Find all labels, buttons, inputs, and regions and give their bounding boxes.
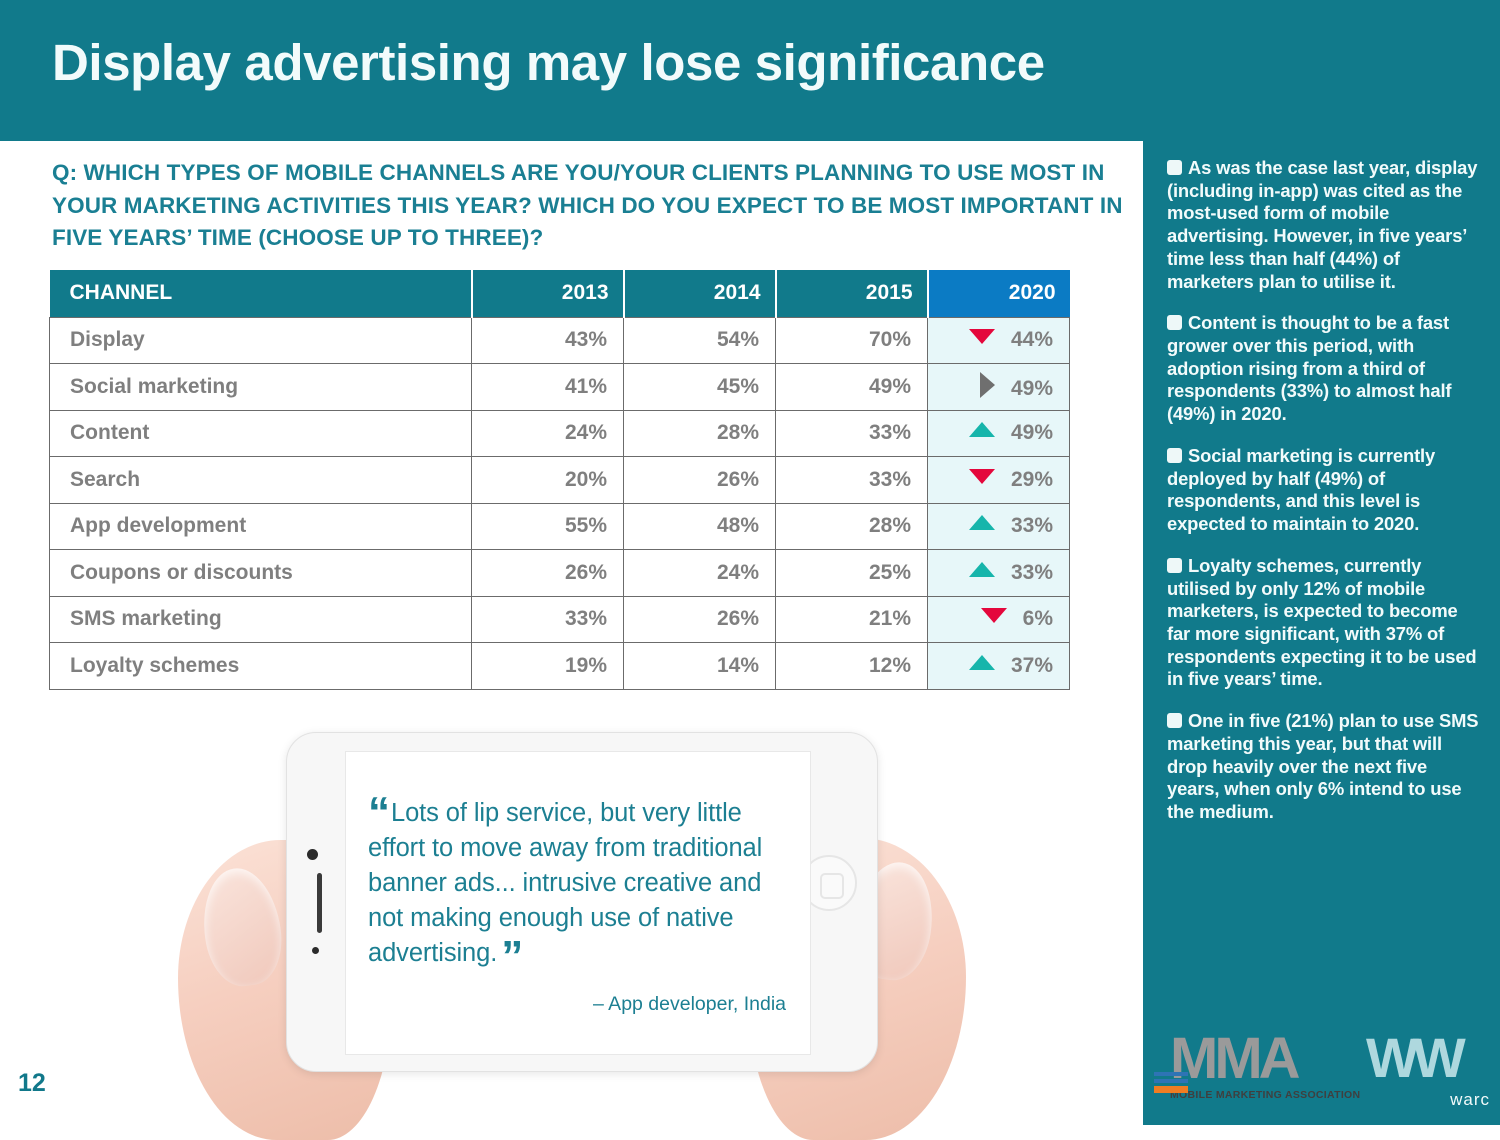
cell-value-2015: 25% — [776, 550, 928, 597]
trend-down-icon — [969, 469, 995, 484]
cell-value-2013: 43% — [472, 317, 624, 364]
insight-item: Loyalty schemes, currently utilised by o… — [1167, 555, 1482, 691]
cell-value-2015: 28% — [776, 503, 928, 550]
bullet-square-icon — [1167, 558, 1182, 573]
logo-area: MMA MOBILE MARKETING ASSOCIATION WW warc — [1170, 1028, 1490, 1120]
cell-value-2020: 6% — [928, 596, 1070, 643]
cell-value-2014: 45% — [624, 364, 776, 411]
cell-value-2014: 28% — [624, 410, 776, 457]
cell-value-2020: 29% — [928, 457, 1070, 504]
insight-text: Content is thought to be a fast grower o… — [1167, 312, 1451, 424]
cell-value-2013: 55% — [472, 503, 624, 550]
cell-value-2013: 24% — [472, 410, 624, 457]
cell-value-2015: 21% — [776, 596, 928, 643]
insight-text: Social marketing is currently deployed b… — [1167, 445, 1435, 534]
phone-screen: “Lots of lip service, but very little ef… — [345, 751, 811, 1055]
trend-up-icon — [969, 422, 995, 437]
insight-item: As was the case last year, display (incl… — [1167, 157, 1482, 293]
bullet-square-icon — [1167, 713, 1182, 728]
mma-bar-orange — [1154, 1086, 1188, 1093]
quote-attribution: – App developer, India — [368, 993, 786, 1016]
cell-value-2015: 33% — [776, 457, 928, 504]
cell-value-2014: 48% — [624, 503, 776, 550]
cell-value-2014: 26% — [624, 596, 776, 643]
table-header-row: CHANNEL 2013 2014 2015 2020 — [50, 270, 1070, 317]
header-band: Display advertising may lose significanc… — [0, 0, 1500, 141]
table-row: Social marketing41%45%49%49% — [50, 364, 1070, 411]
mma-subtitle: MOBILE MARKETING ASSOCIATION — [1170, 1089, 1360, 1101]
table-body: Display43%54%70%44%Social marketing41%45… — [50, 317, 1070, 689]
trend-down-icon — [981, 608, 1007, 623]
insight-text: As was the case last year, display (incl… — [1167, 157, 1477, 292]
cell-value-2015: 49% — [776, 364, 928, 411]
cell-channel-name: SMS marketing — [50, 596, 472, 643]
trend-up-icon — [969, 562, 995, 577]
cell-value-2020: 44% — [928, 317, 1070, 364]
page-title: Display advertising may lose significanc… — [52, 33, 1045, 92]
cell-value-2014: 26% — [624, 457, 776, 504]
trend-up-icon — [969, 655, 995, 670]
cell-value-2020: 33% — [928, 503, 1070, 550]
trend-up-icon — [969, 515, 995, 530]
table-header: CHANNEL 2013 2014 2015 2020 — [50, 270, 1070, 317]
mma-bar-blue-1 — [1154, 1072, 1188, 1076]
warc-logo: WW warc — [1366, 1030, 1490, 1110]
cell-channel-name: Content — [50, 410, 472, 457]
proximity-sensor-icon — [312, 947, 319, 954]
column-header-2014: 2014 — [624, 270, 776, 317]
quote-text: “Lots of lip service, but very little ef… — [368, 796, 786, 971]
quote-open-icon: “ — [368, 788, 388, 837]
table-row: Content24%28%33%49% — [50, 410, 1070, 457]
column-header-2015: 2015 — [776, 270, 928, 317]
channels-table: CHANNEL 2013 2014 2015 2020 Display43%54… — [49, 270, 1070, 690]
table-row: Loyalty schemes19%14%12%37% — [50, 643, 1070, 690]
cell-value-2020: 33% — [928, 550, 1070, 597]
phone-illustration: “Lots of lip service, but very little ef… — [200, 712, 960, 1125]
cell-value-2020: 49% — [928, 364, 1070, 411]
survey-question: Q: WHICH TYPES OF MOBILE CHANNELS ARE YO… — [52, 157, 1127, 255]
trend-down-icon — [969, 329, 995, 344]
warc-wordmark: warc — [1366, 1090, 1490, 1110]
bullet-square-icon — [1167, 448, 1182, 463]
column-header-2013: 2013 — [472, 270, 624, 317]
insight-item: One in five (21%) plan to use SMS market… — [1167, 710, 1482, 824]
cell-channel-name: App development — [50, 503, 472, 550]
column-header-2020: 2020 — [928, 270, 1070, 317]
table-row: SMS marketing33%26%21%6% — [50, 596, 1070, 643]
mma-logo: MMA MOBILE MARKETING ASSOCIATION — [1170, 1030, 1360, 1101]
table-row: App development55%48%28%33% — [50, 503, 1070, 550]
cell-value-2014: 14% — [624, 643, 776, 690]
cell-value-2014: 24% — [624, 550, 776, 597]
column-header-channel: CHANNEL — [50, 270, 472, 317]
cell-value-2013: 26% — [472, 550, 624, 597]
quote-body: Lots of lip service, but very little eff… — [368, 799, 762, 967]
mma-bars-icon — [1154, 1072, 1188, 1096]
cell-value-2020: 37% — [928, 643, 1070, 690]
insight-text: One in five (21%) plan to use SMS market… — [1167, 710, 1478, 822]
cell-channel-name: Coupons or discounts — [50, 550, 472, 597]
insight-item: Content is thought to be a fast grower o… — [1167, 312, 1482, 426]
cell-value-2014: 54% — [624, 317, 776, 364]
mma-wordmark: MMA — [1170, 1030, 1360, 1088]
table-row: Display43%54%70%44% — [50, 317, 1070, 364]
left-thumb-nail — [196, 863, 288, 990]
insights-list: As was the case last year, display (incl… — [1167, 157, 1482, 824]
cell-value-2013: 33% — [472, 596, 624, 643]
insight-item: Social marketing is currently deployed b… — [1167, 445, 1482, 536]
cell-channel-name: Search — [50, 457, 472, 504]
warc-mark-icon: WW — [1366, 1030, 1490, 1086]
cell-value-2015: 12% — [776, 643, 928, 690]
page-number: 12 — [18, 1069, 46, 1098]
bullet-square-icon — [1167, 315, 1182, 330]
cell-value-2013: 20% — [472, 457, 624, 504]
mma-bar-blue-2 — [1154, 1079, 1188, 1083]
table-row: Coupons or discounts26%24%25%33% — [50, 550, 1070, 597]
cell-value-2013: 41% — [472, 364, 624, 411]
insight-text: Loyalty schemes, currently utilised by o… — [1167, 555, 1476, 690]
cell-channel-name: Loyalty schemes — [50, 643, 472, 690]
cell-value-2013: 19% — [472, 643, 624, 690]
trend-flat-icon — [980, 372, 995, 398]
front-camera-icon — [307, 849, 318, 860]
cell-value-2015: 70% — [776, 317, 928, 364]
cell-channel-name: Social marketing — [50, 364, 472, 411]
cell-value-2020: 49% — [928, 410, 1070, 457]
smartphone-body: “Lots of lip service, but very little ef… — [286, 732, 878, 1072]
cell-value-2015: 33% — [776, 410, 928, 457]
bullet-square-icon — [1167, 160, 1182, 175]
cell-channel-name: Display — [50, 317, 472, 364]
earpiece-speaker-icon — [317, 873, 322, 933]
quote-close-icon: ” — [501, 932, 521, 981]
table-row: Search20%26%33%29% — [50, 457, 1070, 504]
insights-panel: As was the case last year, display (incl… — [1143, 141, 1500, 1125]
